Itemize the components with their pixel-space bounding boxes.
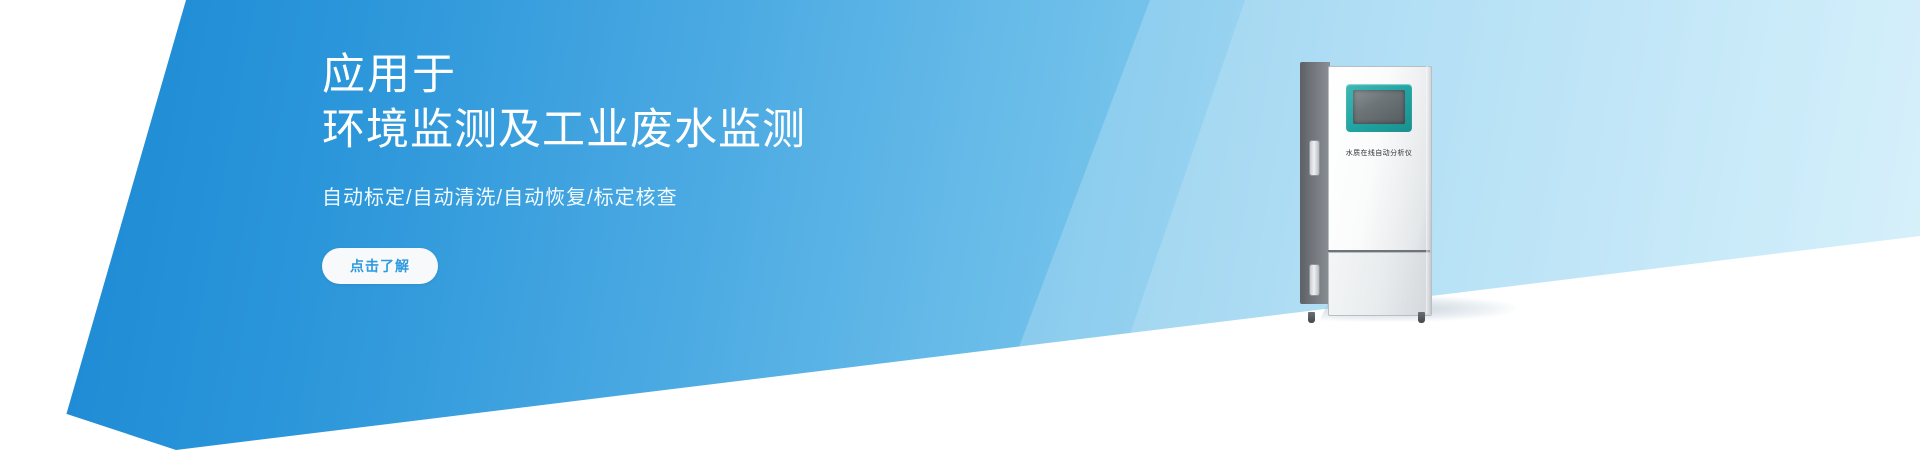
device-upper-handle bbox=[1309, 140, 1320, 176]
device-label: 水质在线自动分析仪 bbox=[1328, 148, 1430, 158]
device-lower-compartment bbox=[1328, 252, 1432, 316]
device-caster-right bbox=[1418, 312, 1425, 323]
device-side-panel bbox=[1300, 62, 1330, 304]
learn-more-button[interactable]: 点击了解 bbox=[322, 248, 438, 284]
water-quality-analyzer-image: 水质在线自动分析仪 bbox=[1300, 62, 1450, 320]
device-lower-handle bbox=[1309, 264, 1320, 296]
hero-subtitle: 自动标定/自动清洗/自动恢复/标定核查 bbox=[322, 184, 1042, 212]
device-caster-left bbox=[1308, 312, 1315, 323]
hero-banner: 应用于 环境监测及工业废水监测 自动标定/自动清洗/自动恢复/标定核查 点击了解… bbox=[0, 0, 1920, 450]
headline-line-1: 应用于 bbox=[322, 48, 1042, 103]
device-right-edge-highlight bbox=[1426, 66, 1431, 314]
headline-line-2: 环境监测及工业废水监测 bbox=[322, 103, 1042, 158]
device-display-bezel bbox=[1346, 84, 1412, 132]
hero-headline: 应用于 环境监测及工业废水监测 bbox=[322, 48, 1042, 158]
device-display-screen bbox=[1353, 90, 1405, 124]
hero-copy: 应用于 环境监测及工业废水监测 自动标定/自动清洗/自动恢复/标定核查 点击了解 bbox=[322, 48, 1042, 284]
